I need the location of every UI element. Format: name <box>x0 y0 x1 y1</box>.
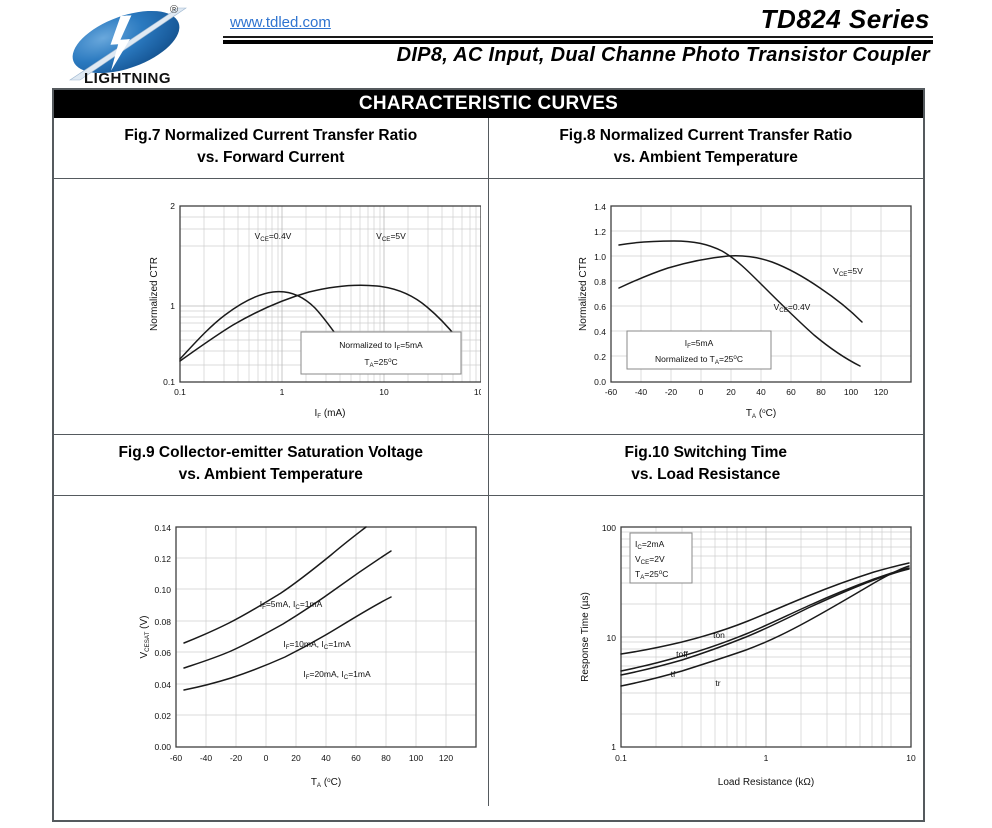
registered-mark: ® <box>170 4 178 16</box>
characteristic-curves-table: CHARACTERISTIC CURVES Fig.7 Normalized C… <box>52 88 925 822</box>
fig7-xtick-1: 1 <box>279 387 284 397</box>
fig8-xtick-4: 20 <box>726 387 736 397</box>
fig9-curve-if5 <box>184 527 366 643</box>
header-right: www.tdled.com TD824 Series DIP8, AC Inpu… <box>218 0 938 88</box>
fig10-caption-line1: Fig.10 Switching Time <box>493 442 920 464</box>
fig10-plot: IC=2mA VCE=2V TA=25oC ton toff tf tr 100… <box>489 496 924 806</box>
fig9-ytick-3: 0.06 <box>154 648 171 658</box>
fig8-caption: Fig.8 Normalized Current Transfer Ratio … <box>489 118 924 179</box>
fig7-xtick-3: 100 <box>474 387 481 397</box>
fig8-label-vce5: VCE=5V <box>833 266 863 278</box>
fig9-xtick-8: 100 <box>409 753 423 763</box>
fig7-plot: Normalized to IF=5mA TA=25oC VCE=0.4V VC… <box>54 179 489 435</box>
fig8-yaxis-label: Normalized CTR <box>578 257 589 331</box>
fig9-xtick-7: 80 <box>381 753 391 763</box>
fig8-ytick-5: 1.0 <box>594 252 606 262</box>
fig10-caption-line2: vs. Load Resistance <box>493 464 920 486</box>
section-banner: CHARACTERISTIC CURVES <box>54 90 923 118</box>
fig10-xtick-1: 1 <box>763 753 768 763</box>
fig9-xtick-5: 40 <box>321 753 331 763</box>
fig8-ytick-4: 0.8 <box>594 277 606 287</box>
fig7-ytick-0: 0.1 <box>163 377 175 387</box>
fig8-xtick-5: 40 <box>756 387 766 397</box>
fig9-caption-line1: Fig.9 Collector-emitter Saturation Volta… <box>58 442 484 464</box>
fig9-label-if20: IF=20mA, IC=1mA <box>303 669 371 681</box>
fig9-caption: Fig.9 Collector-emitter Saturation Volta… <box>54 435 489 496</box>
product-subtitle: DIP8, AC Input, Dual Channe Photo Transi… <box>397 44 930 67</box>
fig8-ytick-1: 0.2 <box>594 352 606 362</box>
fig9-xtick-6: 60 <box>351 753 361 763</box>
fig8-ytick-3: 0.6 <box>594 302 606 312</box>
fig10-note-box: IC=2mA VCE=2V TA=25oC <box>630 533 692 583</box>
fig8-curve-vce5 <box>619 256 862 322</box>
fig10-xaxis-label: Load Resistance (kΩ) <box>718 777 814 788</box>
fig9-ytick-5: 0.10 <box>154 585 171 595</box>
page-header: ® LIGHTNING www.tdled.com TD824 Series D… <box>0 0 992 88</box>
fig8-xaxis-label: TA (oC) <box>746 408 776 420</box>
fig8-ytick-6: 1.2 <box>594 227 606 237</box>
fig8-xtick-0: -60 <box>605 387 618 397</box>
fig8-note-box: IF=5mA Normalized to TA=25oC <box>627 331 771 369</box>
fig10-curve-tf <box>621 569 909 675</box>
fig9-xtick-2: -20 <box>230 753 243 763</box>
header-rule-thin <box>223 36 933 38</box>
fig9-label-if5: IF=5mA, IC=1mA <box>259 599 322 611</box>
fig9-label-if10: IF=10mA, IC=1mA <box>283 639 351 651</box>
fig9-ytick-2: 0.04 <box>154 680 171 690</box>
fig7-xtick-2: 10 <box>379 387 389 397</box>
fig7-xtick-0: 0.1 <box>174 387 186 397</box>
plot-row-1: Normalized to IF=5mA TA=25oC VCE=0.4V VC… <box>54 179 923 435</box>
fig8-xtick-8: 100 <box>844 387 858 397</box>
fig10-svg: IC=2mA VCE=2V TA=25oC ton toff tf tr 100… <box>496 501 916 801</box>
fig8-label-vce04: VCE=0.4V <box>773 302 810 314</box>
fig9-xaxis-label: TA (oC) <box>311 777 341 789</box>
fig7-svg: Normalized to IF=5mA TA=25oC VCE=0.4V VC… <box>61 184 481 428</box>
fig8-xtick-3: 0 <box>698 387 703 397</box>
fig10-label-tf: tf <box>670 669 675 679</box>
company-logo: ® LIGHTNING <box>52 4 217 88</box>
fig7-caption: Fig.7 Normalized Current Transfer Ratio … <box>54 118 489 179</box>
fig9-caption-line2: vs. Ambient Temperature <box>58 464 484 486</box>
fig10-xtick-2: 10 <box>906 753 916 763</box>
plot-row-2: IF=5mA, IC=1mA IF=10mA, IC=1mA IF=20mA, … <box>54 496 923 806</box>
fig9-plot: IF=5mA, IC=1mA IF=10mA, IC=1mA IF=20mA, … <box>54 496 489 806</box>
fig8-caption-line1: Fig.8 Normalized Current Transfer Ratio <box>493 125 920 147</box>
fig8-caption-line2: vs. Ambient Temperature <box>493 147 920 169</box>
fig9-ytick-0: 0.00 <box>154 742 171 752</box>
fig8-ytick-7: 1.4 <box>594 202 606 212</box>
fig7-yaxis-label: Normalized CTR <box>149 257 160 331</box>
fig8-plot: IF=5mA Normalized to TA=25oC VCE=5V VCE=… <box>489 179 924 435</box>
caption-row-2: Fig.9 Collector-emitter Saturation Volta… <box>54 435 923 496</box>
fig7-label-vce5: VCE=5V <box>376 231 406 243</box>
fig8-svg: IF=5mA Normalized to TA=25oC VCE=5V VCE=… <box>496 184 916 428</box>
fig10-label-tr: tr <box>715 678 720 688</box>
fig8-xtick-7: 80 <box>816 387 826 397</box>
fig9-ytick-4: 0.08 <box>154 617 171 627</box>
fig7-label-vce04: VCE=0.4V <box>254 231 291 243</box>
fig8-ytick-0: 0.0 <box>594 377 606 387</box>
fig9-svg: IF=5mA, IC=1mA IF=10mA, IC=1mA IF=20mA, … <box>61 501 481 801</box>
fig9-ytick-7: 0.14 <box>154 523 171 533</box>
fig8-xtick-6: 60 <box>786 387 796 397</box>
fig7-caption-line2: vs. Forward Current <box>58 147 484 169</box>
fig10-xtick-0: 0.1 <box>615 753 627 763</box>
fig10-label-ton: ton <box>713 630 725 640</box>
fig7-xaxis-label: IF (mA) <box>314 408 345 420</box>
fig9-ytick-6: 0.12 <box>154 554 171 564</box>
fig9-xtick-9: 120 <box>439 753 453 763</box>
fig9-yaxis-label: VCESAT (V) <box>139 615 151 658</box>
fig10-ytick-0: 1 <box>611 742 616 752</box>
fig8-ytick-2: 0.4 <box>594 327 606 337</box>
fig9-xtick-4: 20 <box>291 753 301 763</box>
fig8-xtick-2: -20 <box>665 387 678 397</box>
fig8-xtick-1: -40 <box>635 387 648 397</box>
fig10-yaxis-label: Response Time (µs) <box>580 592 591 682</box>
fig9-xtick-0: -60 <box>170 753 183 763</box>
fig9-xtick-1: -40 <box>200 753 213 763</box>
fig10-caption: Fig.10 Switching Time vs. Load Resistanc… <box>489 435 924 496</box>
fig7-caption-line1: Fig.7 Normalized Current Transfer Ratio <box>58 125 484 147</box>
fig9-xtick-3: 0 <box>263 753 268 763</box>
website-link[interactable]: www.tdled.com <box>230 14 331 31</box>
caption-row-1: Fig.7 Normalized Current Transfer Ratio … <box>54 118 923 179</box>
series-title: TD824 Series <box>761 4 930 35</box>
fig10-ytick-1: 10 <box>606 633 616 643</box>
fig10-ytick-2: 100 <box>602 523 616 533</box>
fig7-ytick-2: 2 <box>170 201 175 211</box>
fig7-note-box: Normalized to IF=5mA TA=25oC <box>301 332 461 374</box>
fig8-xtick-9: 120 <box>874 387 888 397</box>
logo-wordmark: LIGHTNING <box>84 70 171 87</box>
fig7-ytick-1: 1 <box>170 301 175 311</box>
fig9-ytick-1: 0.02 <box>154 711 171 721</box>
fig10-label-toff: toff <box>676 649 688 659</box>
